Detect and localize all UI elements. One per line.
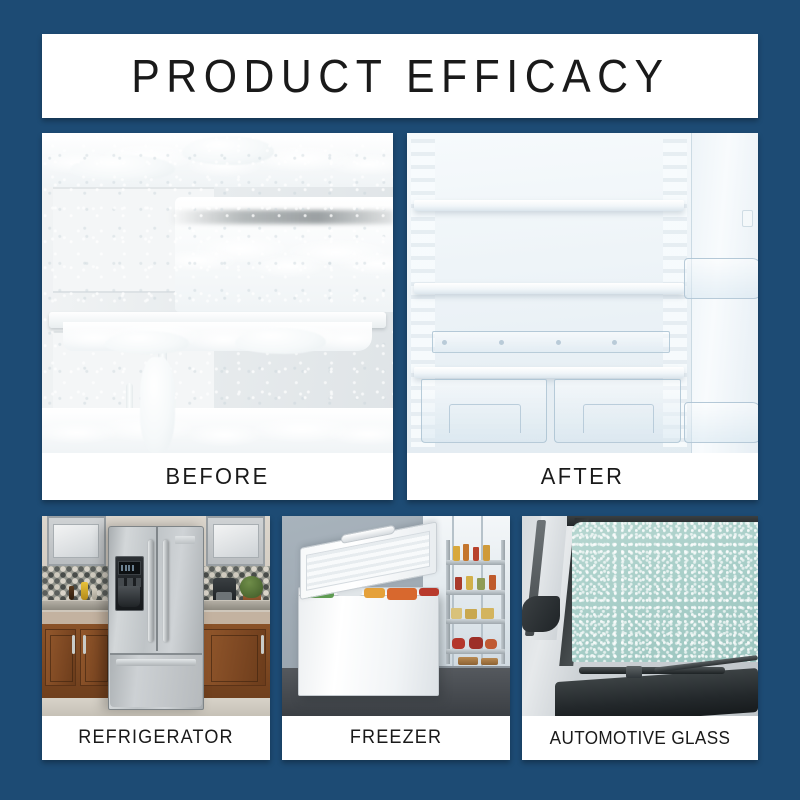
pantry-jar-4 bbox=[483, 545, 490, 561]
ice-water-dispenser[interactable] bbox=[115, 556, 144, 611]
countertop-right bbox=[197, 600, 270, 610]
display-digit-4 bbox=[132, 565, 134, 572]
application-label-refrigerator: REFRIGERATOR bbox=[48, 716, 265, 760]
pantry-box-2 bbox=[466, 576, 473, 590]
pantry-shelf-3 bbox=[446, 619, 505, 624]
dispenser-display bbox=[118, 561, 141, 575]
after-label: AFTER bbox=[416, 453, 749, 500]
application-card-refrigerator: REFRIGERATOR bbox=[42, 516, 270, 760]
refrigerator-door-split bbox=[156, 527, 158, 651]
stainless-french-door-refrigerator-photo bbox=[42, 516, 270, 716]
counter-bottle-1 bbox=[69, 586, 74, 600]
pantry-produce-4 bbox=[452, 638, 465, 649]
lower-cabinet-door-3 bbox=[201, 629, 265, 687]
fridge-shelf-trim-bar bbox=[432, 331, 671, 353]
freezer-food-5 bbox=[419, 588, 440, 596]
backsplash-tile-left bbox=[42, 566, 115, 600]
lower-cabinets-right bbox=[197, 624, 270, 700]
dispenser-recess bbox=[118, 586, 140, 607]
cabinet-handle-1 bbox=[72, 635, 75, 655]
pantry-shelf-2 bbox=[446, 590, 505, 595]
lower-cabinet-door-1 bbox=[45, 629, 76, 687]
freezer-food-3 bbox=[364, 588, 385, 598]
white-chest-freezer-photo bbox=[282, 516, 510, 716]
fridge-glass-shelf-bottom bbox=[414, 367, 684, 378]
refrigerator-handle-right[interactable] bbox=[163, 540, 168, 642]
fridge-glass-shelf-top bbox=[414, 200, 684, 211]
pantry-crate-2 bbox=[481, 658, 499, 665]
countertop-left bbox=[42, 600, 115, 610]
kitchen-upper-cabinet-left bbox=[47, 516, 106, 566]
before-card: BEFORE bbox=[42, 133, 393, 500]
freezer-food-4 bbox=[387, 588, 417, 600]
frost-icicle bbox=[140, 357, 175, 453]
wiper-pivot-joint bbox=[626, 666, 642, 678]
pantry-jar-3 bbox=[473, 547, 479, 561]
pantry-produce-3 bbox=[481, 608, 494, 619]
shelving-post-left bbox=[446, 540, 450, 664]
pantry-jar-2 bbox=[463, 544, 470, 561]
clean-refrigerator-interior-photo bbox=[407, 133, 758, 453]
frost-lump-d bbox=[235, 328, 326, 354]
refrigerator-body bbox=[108, 526, 204, 710]
frost-texture-overlay bbox=[42, 133, 393, 453]
page-title: PRODUCT EFFICACY bbox=[131, 49, 669, 103]
cabinet-handle-3 bbox=[261, 635, 264, 655]
before-after-row: BEFORE bbox=[42, 133, 758, 500]
pantry-produce-2 bbox=[465, 609, 477, 619]
counter-bottle-3 bbox=[92, 588, 97, 600]
cabinet-handle-2 bbox=[83, 635, 86, 655]
refrigerator-brand-badge bbox=[175, 536, 196, 544]
refrigerator-handle-left[interactable] bbox=[148, 540, 153, 642]
pantry-crate-1 bbox=[458, 657, 478, 666]
cabinet-glass-left bbox=[53, 524, 99, 559]
pantry-jar-1 bbox=[453, 546, 460, 561]
frosted-freezer-interior-photo bbox=[42, 133, 393, 453]
frost-crust-floor bbox=[42, 408, 393, 453]
kitchen-upper-cabinet-right bbox=[206, 516, 265, 566]
fridge-door-bin-lower[interactable] bbox=[684, 402, 758, 444]
pantry-shelving-unit bbox=[446, 540, 505, 664]
frosted-windshield-photo bbox=[522, 516, 758, 716]
freezer-drawer[interactable] bbox=[110, 653, 202, 708]
application-label-automotive-glass: AUTOMOTIVE GLASS bbox=[528, 716, 752, 760]
shelf-stud-3 bbox=[556, 340, 561, 345]
shelf-stud-1 bbox=[442, 340, 447, 345]
chest-freezer-body bbox=[298, 592, 439, 696]
side-mirror bbox=[522, 596, 560, 632]
application-card-freezer: FREEZER bbox=[282, 516, 510, 760]
pantry-box-1 bbox=[455, 577, 463, 589]
fridge-door-bin-upper[interactable] bbox=[684, 258, 758, 300]
lower-cabinets-left bbox=[42, 624, 115, 700]
frosted-windshield-glass bbox=[572, 522, 758, 662]
potted-plant bbox=[240, 576, 263, 598]
pantry-produce-6 bbox=[485, 639, 497, 649]
shelving-post-right bbox=[501, 540, 505, 664]
fridge-crisper-drawer-right[interactable] bbox=[554, 379, 680, 443]
fridge-glass-shelf-middle bbox=[414, 283, 684, 294]
before-label: BEFORE bbox=[51, 453, 384, 500]
applications-row: REFRIGERATOR bbox=[42, 516, 758, 760]
fridge-crisper-drawer-left[interactable] bbox=[421, 379, 547, 443]
pantry-shelf-4 bbox=[446, 649, 505, 654]
application-card-automotive-glass: AUTOMOTIVE GLASS bbox=[522, 516, 758, 760]
shelf-stud-4 bbox=[612, 340, 617, 345]
application-label-freezer: FREEZER bbox=[288, 716, 505, 760]
pantry-produce-1 bbox=[451, 608, 462, 619]
frost-lump-c bbox=[105, 331, 189, 353]
shelf-stud-2 bbox=[499, 340, 504, 345]
pantry-box-4 bbox=[489, 575, 496, 590]
display-digit-3 bbox=[128, 565, 130, 572]
windshield-wiper-blade[interactable] bbox=[579, 667, 725, 674]
counter-bottle-2 bbox=[81, 582, 88, 600]
after-card: AFTER bbox=[407, 133, 758, 500]
cabinet-glass-right bbox=[213, 524, 259, 559]
pantry-produce-5 bbox=[469, 637, 483, 649]
product-efficacy-infographic: PRODUCT EFFICACY bbox=[0, 0, 800, 800]
fridge-door-switch[interactable] bbox=[742, 210, 753, 227]
display-digit-1 bbox=[121, 565, 123, 572]
title-banner: PRODUCT EFFICACY bbox=[42, 34, 758, 118]
pantry-box-3 bbox=[477, 578, 485, 589]
display-digit-2 bbox=[125, 565, 127, 572]
